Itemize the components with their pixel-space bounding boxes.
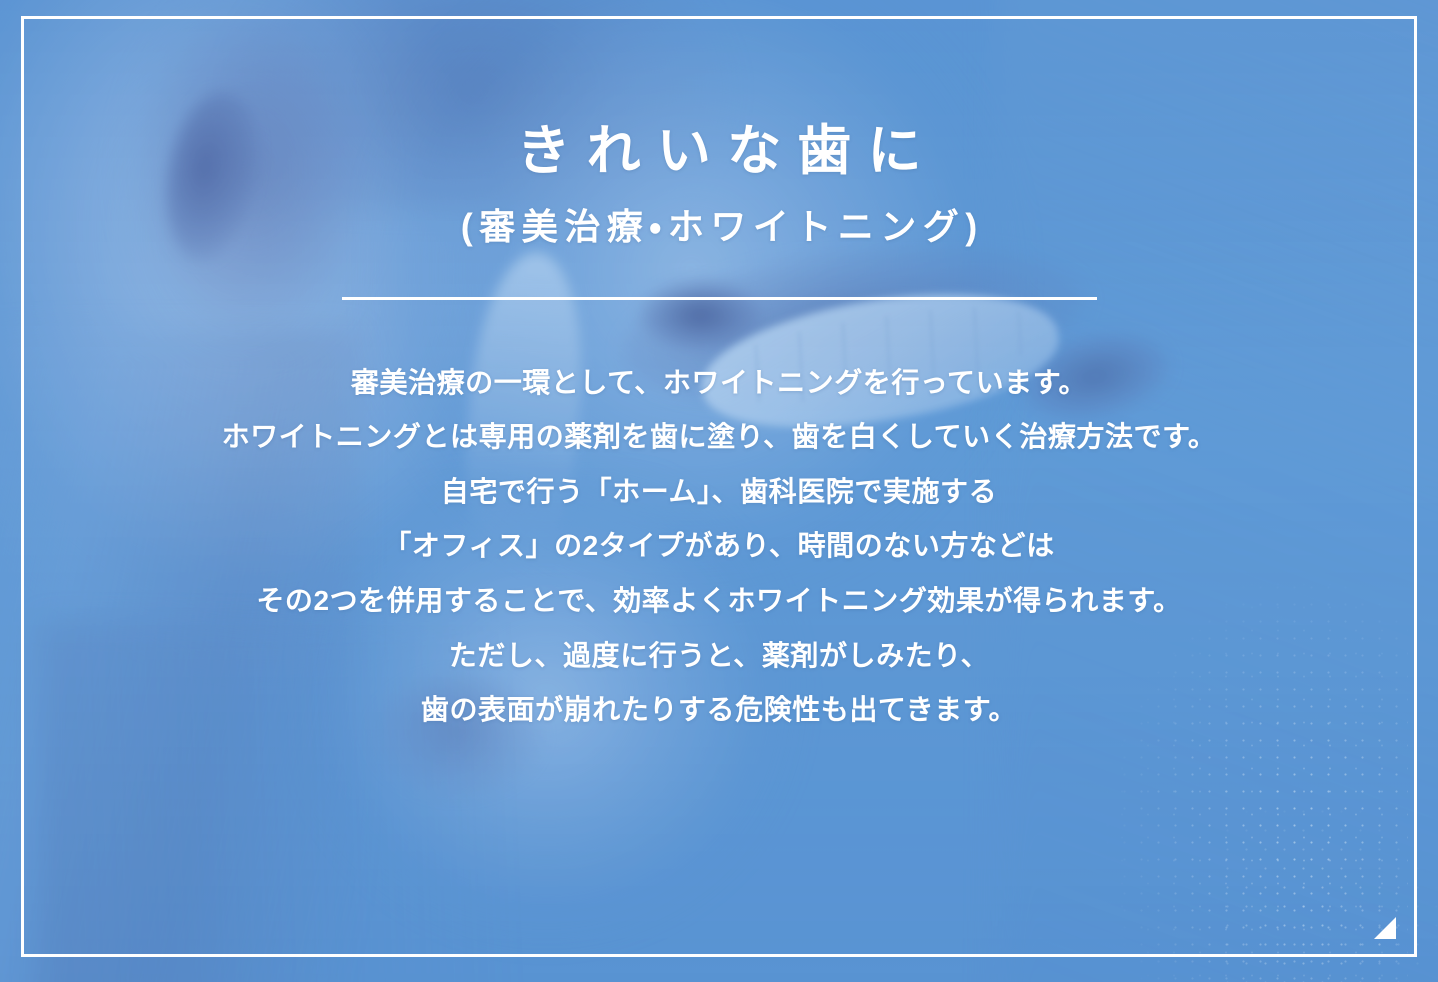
body-line: 歯の表面が崩れたりする危険性も出てきます。: [222, 683, 1217, 738]
hero-content: きれいな歯に (審美治療・ホワイトニング) 審美治療の一環として、ホワイトニング…: [0, 0, 1438, 982]
body-paragraph: 審美治療の一環として、ホワイトニングを行っています。 ホワイトニングとは専用の薬…: [222, 308, 1217, 738]
title-divider: [342, 297, 1097, 300]
body-line: 自宅で行う「ホーム」、歯科医院で実施する: [222, 465, 1217, 520]
body-line: ただし、過度に行うと、薬剤がしみたり、: [222, 629, 1217, 684]
page-title: きれいな歯に: [500, 0, 937, 181]
body-line: ホワイトニングとは専用の薬剤を歯に塗り、歯を白くしていく治療方法です。: [222, 410, 1217, 465]
triangle-marker-icon: [1374, 917, 1396, 939]
body-line: 審美治療の一環として、ホワイトニングを行っています。: [222, 356, 1217, 411]
body-line: 「オフィス」の2タイプがあり、時間のない方などは: [222, 519, 1217, 574]
page-subtitle: (審美治療・ホワイトニング): [454, 181, 983, 248]
hero-section: きれいな歯に (審美治療・ホワイトニング) 審美治療の一環として、ホワイトニング…: [0, 0, 1438, 982]
body-line: その2つを併用することで、効率よくホワイトニング効果が得られます。: [222, 574, 1217, 629]
